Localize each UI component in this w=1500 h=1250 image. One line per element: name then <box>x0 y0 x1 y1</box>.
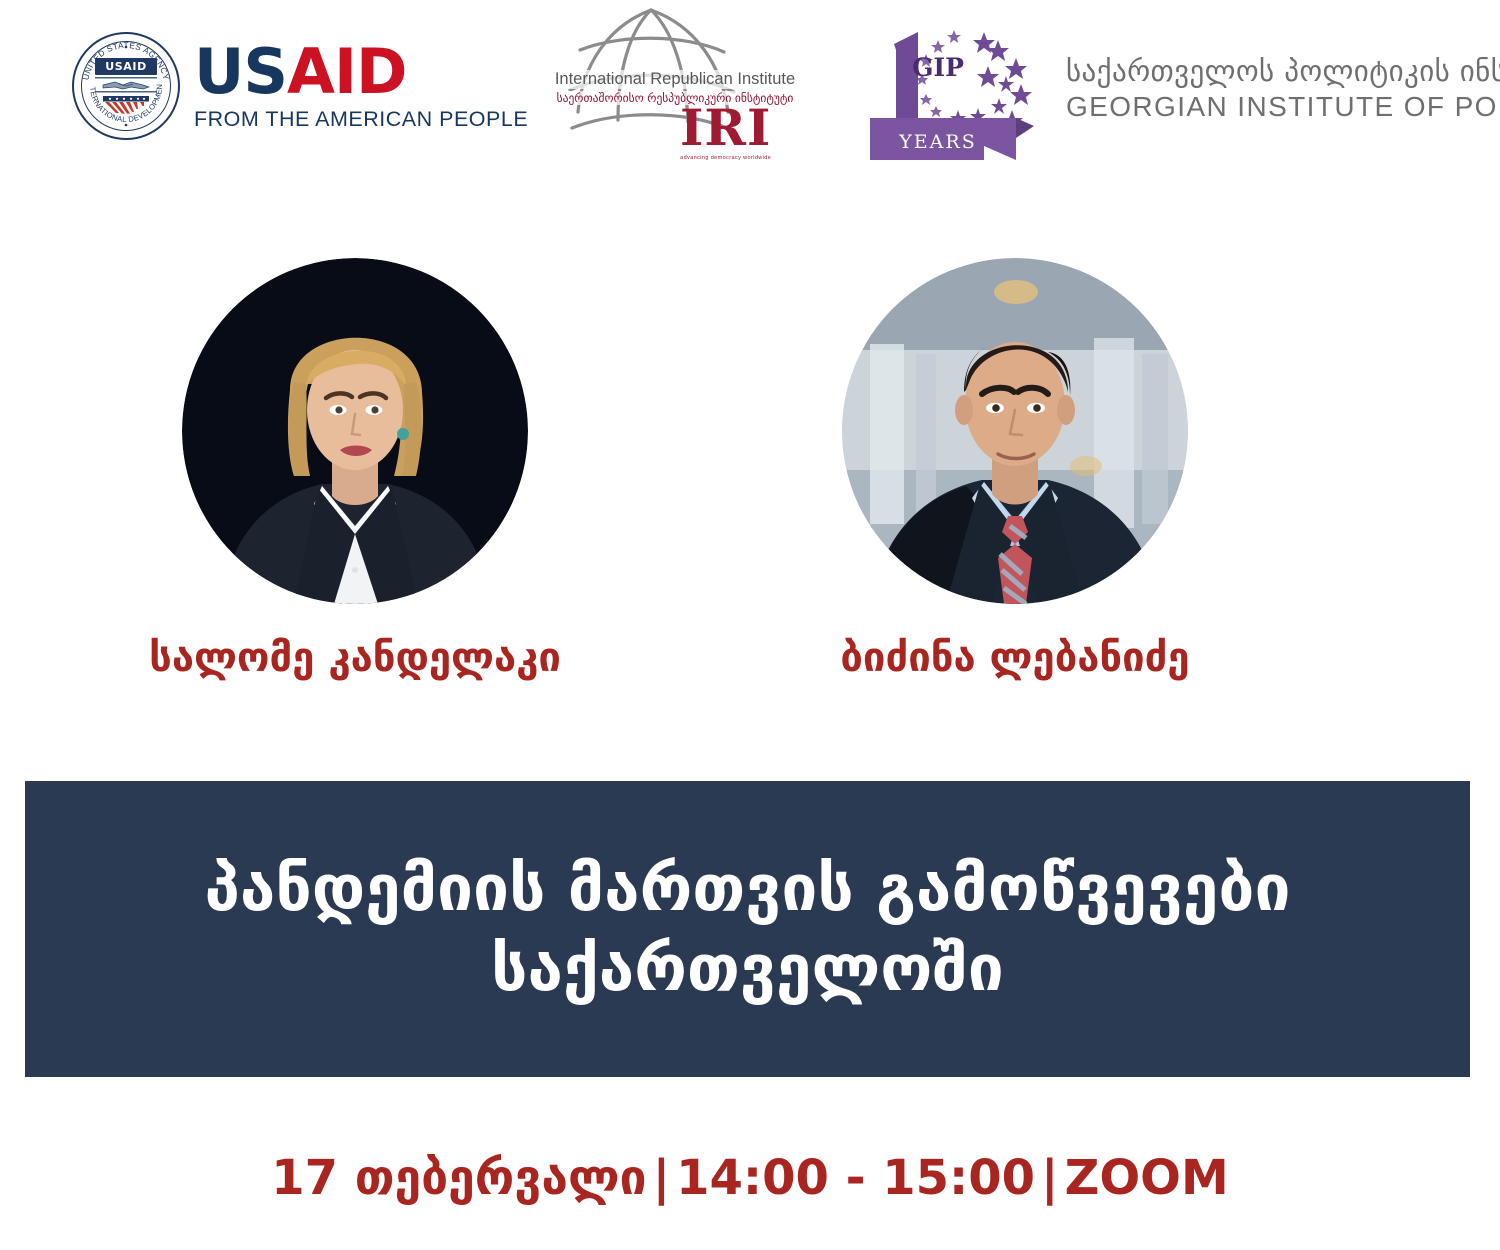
gip-ten-years-icon: GIP YEARS <box>866 14 1042 164</box>
usaid-seal-icon: UNITED STATES AGENCY INTERNATIONAL DEVEL… <box>72 32 180 140</box>
speaker-name-2: ბიძინა ლებანიძე <box>775 636 1255 680</box>
event-time: 14:00 - 15:00 <box>676 1150 1035 1206</box>
event-title: პანდემიის მართვის გამოწვევები საქართველო… <box>164 849 1330 1009</box>
event-date: 17 თებერვალი <box>271 1150 646 1206</box>
event-platform: ZOOM <box>1065 1150 1229 1206</box>
svg-text:GIP: GIP <box>912 53 964 82</box>
iri-mark-tagline: advancing democracy worldwide <box>680 155 771 161</box>
usaid-seal-center: USAID <box>94 58 158 114</box>
event-title-line-1: პანდემიის მართვის გამოწვევები <box>204 849 1290 929</box>
usaid-logo: UNITED STATES AGENCY INTERNATIONAL DEVEL… <box>72 32 528 140</box>
speakers-section: სალომე კანდელაკი <box>0 258 1500 718</box>
usaid-seal-shield-icon <box>103 96 149 114</box>
usaid-wordmark-us: US <box>194 35 287 108</box>
gip-logo: GIP YEARS საქართველოს პოლიტიკის ინსტიტუტ… <box>866 14 1500 164</box>
gip-name-georgian: საქართველოს პოლიტიკის ინსტიტუტი <box>1066 54 1500 89</box>
speaker-photo-1 <box>182 258 528 604</box>
iri-mark-label: IRI <box>680 103 771 153</box>
event-details-line: 17 თებერვალი|14:00 - 15:00|ZOOM <box>0 1150 1500 1206</box>
gip-wordmark: საქართველოს პოლიტიკის ინსტიტუტი GEORGIAN… <box>1066 54 1500 124</box>
iri-logo: International Republican Institute საერთ… <box>548 8 798 168</box>
iri-mark: IRI advancing democracy worldwide <box>680 103 771 161</box>
speaker-card-2: ბიძინა ლებანიძე <box>775 258 1255 680</box>
event-details-footer: 17 თებერვალი|14:00 - 15:00|ZOOM <box>0 1150 1500 1206</box>
iri-name-english: International Republican Institute <box>552 70 798 89</box>
speaker-photo-2 <box>842 258 1188 604</box>
usaid-tagline: FROM THE AMERICAN PEOPLE <box>194 109 528 131</box>
gip-name-english: GEORGIAN INSTITUTE OF POLITICS <box>1066 90 1500 124</box>
event-title-line-2: საქართველოში <box>204 929 1290 1009</box>
speaker-card-1: სალომე კანდელაკი <box>115 258 595 680</box>
title-banner: პანდემიის მართვის გამოწვევები საქართველო… <box>25 781 1470 1077</box>
usaid-wordmark: USAID FROM THE AMERICAN PEOPLE <box>194 41 528 131</box>
handshake-icon <box>95 76 157 95</box>
footer-separator-2: | <box>1035 1150 1065 1206</box>
usaid-wordmark-aid: AID <box>287 35 407 108</box>
speaker-name-1: სალომე კანდელაკი <box>115 636 595 680</box>
svg-text:YEARS: YEARS <box>898 131 976 153</box>
usaid-seal-band-label: USAID <box>95 58 157 75</box>
logo-bar: UNITED STATES AGENCY INTERNATIONAL DEVEL… <box>0 0 1500 180</box>
footer-separator-1: | <box>647 1150 677 1206</box>
